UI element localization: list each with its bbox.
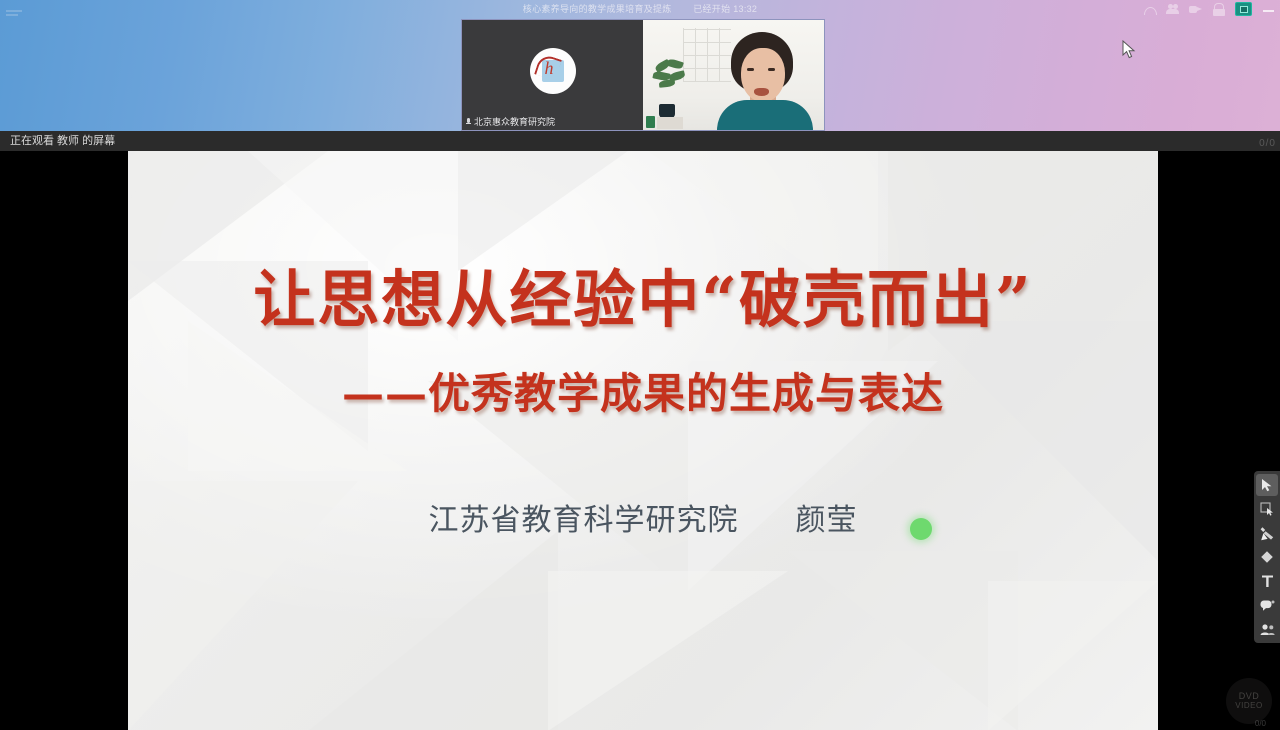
presentation-slide[interactable]: 让思想从经验中“破壳而出” ——优秀教学成果的生成与表达 江苏省教育科学研究院 … [128,151,1158,730]
minimize-button[interactable] [1262,0,1276,18]
webcam-person-body [717,100,813,130]
video-tile-name: 北京惠众教育研究院 [474,115,555,128]
video-tile-webcam[interactable] [643,20,824,130]
webcam-plant [653,60,691,100]
video-tile-label-group: 北京惠众教育研究院 [466,115,555,128]
webcam-card-object [657,117,683,129]
slide-title: 让思想从经验中“破壳而出” [128,269,1158,331]
participants-icon[interactable] [1166,3,1179,16]
cursor-icon [1261,478,1274,492]
people-stamp-icon [1260,623,1275,636]
webcam-plant-pot [659,104,675,118]
comment-tool-button[interactable] [1256,594,1278,616]
shape-tool-button[interactable] [1256,546,1278,568]
watching-label: 正在观看 教师 的屏幕 [10,131,115,151]
camera-icon[interactable] [1189,3,1202,16]
share-status-bar: 正在观看 教师 的屏幕 0/0 [0,131,1280,151]
area-select-tool-button[interactable] [1256,498,1278,520]
recording-icon[interactable] [1235,2,1252,16]
diamond-icon [1260,550,1274,564]
corner-badge-line1: DVD [1239,691,1260,701]
page-counter: 0/0 [1255,719,1266,728]
speech-bubble-icon [1260,599,1275,612]
meeting-status: 已经开始 13:32 [693,4,757,14]
slide-content: 让思想从经验中“破壳而出” ——优秀教学成果的生成与表达 江苏省教育科学研究院 … [128,151,1158,730]
stamp-tool-button[interactable] [1256,618,1278,640]
video-tile-screen-share[interactable]: 北京惠众教育研究院 [462,20,643,130]
corner-badge-line2: VIDEO [1235,701,1262,711]
webcam-badge-object [646,116,655,128]
screen-root: 核心素养导向的教学成果培育及提炼 已经开始 13:32 北京惠众教育研究院 [0,0,1280,730]
laser-pointer-dot [910,518,932,540]
slide-presenter: 颜莹 [796,503,858,538]
marker-icon [1260,526,1275,541]
slide-byline: 江苏省教育科学研究院 颜莹 [128,506,1158,536]
text-tool-button[interactable] [1256,570,1278,592]
titlebar-controls [1143,0,1276,18]
webcam-person-eye-right [768,68,775,71]
institute-logo [530,48,576,94]
video-thumbnail-strip: 北京惠众教育研究院 [461,19,825,131]
meeting-titlebar: 核心素养导向的教学成果培育及提炼 已经开始 13:32 [0,0,1280,18]
corner-disc-badge: DVD VIDEO [1226,678,1272,724]
lock-icon[interactable] [1212,3,1225,16]
meeting-title-group: 核心素养导向的教学成果培育及提炼 已经开始 13:32 [0,0,1280,18]
webcam-person-eye-left [747,68,754,71]
mic-muted-icon [466,118,471,126]
webcam-person-mouth [754,88,769,96]
shared-screen-stage: 让思想从经验中“破壳而出” ——优秀教学成果的生成与表达 江苏省教育科学研究院 … [0,151,1280,730]
logo-mark [542,60,564,82]
highlighter-tool-button[interactable] [1256,522,1278,544]
meeting-title: 核心素养导向的教学成果培育及提炼 [523,4,672,14]
signal-icon[interactable] [1143,3,1156,16]
text-t-icon [1261,574,1274,588]
select-area-icon [1260,502,1274,516]
mouse-cursor [1122,40,1136,60]
slide-affiliation: 江苏省教育科学研究院 [428,503,738,538]
select-tool-button[interactable] [1256,474,1278,496]
slide-subtitle: ——优秀教学成果的生成与表达 [128,373,1158,415]
annotation-toolbar [1254,471,1280,643]
